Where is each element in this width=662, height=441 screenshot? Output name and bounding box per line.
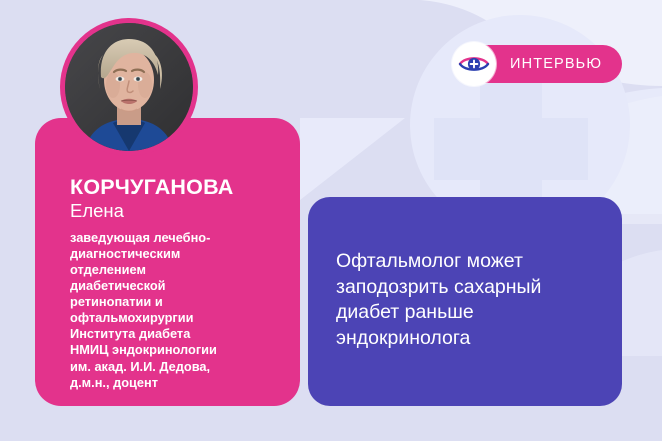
speaker-firstname: Елена — [70, 200, 285, 223]
speaker-role: заведующая лечебно- диагностическим отде… — [70, 230, 285, 391]
headline-card: Офтальмолог может заподозрить сахарный д… — [308, 197, 622, 406]
headline-text: Офтальмолог может заподозрить сахарный д… — [336, 249, 598, 351]
interview-badge: ИНТЕРВЬЮ — [455, 45, 622, 83]
speaker-portrait — [65, 23, 193, 151]
portrait-illustration — [65, 23, 193, 151]
speaker-surname: КОРЧУГАНОВА — [70, 176, 285, 199]
badge-label: ИНТЕРВЬЮ — [510, 56, 602, 72]
brand-logo — [452, 42, 496, 86]
speaker-info: КОРЧУГАНОВА Елена заведующая лечебно- ди… — [70, 176, 285, 391]
avatar — [60, 18, 198, 156]
eye-logo-icon — [457, 47, 491, 81]
